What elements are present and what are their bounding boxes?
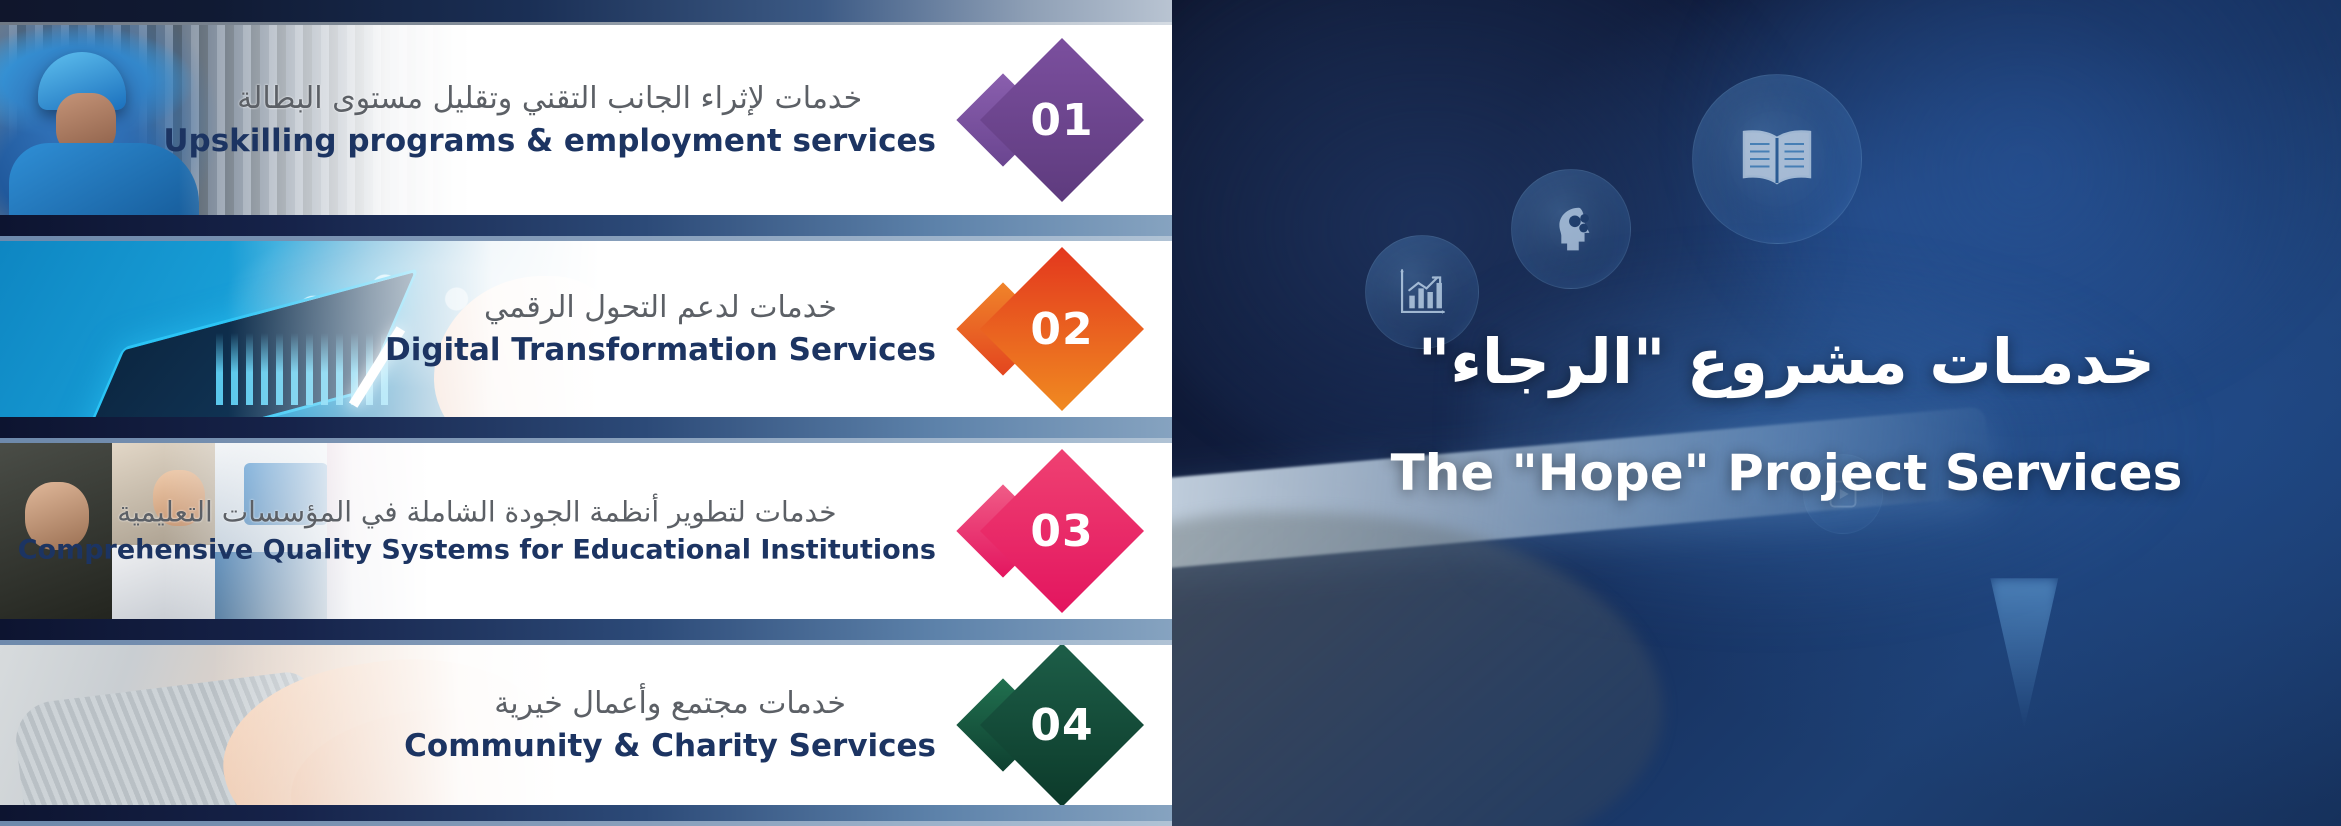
- hero-title-en: The "Hope" Project Services: [1391, 444, 2183, 502]
- service-text-03: خدمات لتطوير أنظمة الجودة الشاملة في الم…: [18, 495, 936, 568]
- service-badge-04[interactable]: 04: [970, 650, 1120, 800]
- hero-title-ar: خدمـات مشروع "الرجاء": [1418, 325, 2155, 398]
- service-badge-02[interactable]: 02: [970, 254, 1120, 404]
- hero-panel: خدمـات مشروع "الرجاء" The "Hope" Project…: [1172, 0, 2341, 826]
- service-text-02: خدمات لدعم التحول الرقمي Digital Transfo…: [385, 289, 936, 369]
- service-number-01: 01: [1004, 62, 1120, 178]
- service-title-en-01: Upskilling programs & employment service…: [163, 121, 936, 160]
- service-row-04[interactable]: خدمات مجتمع وأعمال خيرية Community & Cha…: [0, 645, 1172, 805]
- slide-canvas: خدمات لإثراء الجانب التقني وتقليل مستوى …: [0, 0, 2341, 826]
- service-title-en-04: Community & Charity Services: [404, 726, 936, 765]
- row-separator-bottom: [0, 805, 1172, 826]
- service-row-03[interactable]: خدمات لتطوير أنظمة الجودة الشاملة في الم…: [0, 443, 1172, 619]
- service-row-02[interactable]: خدمات لدعم التحول الرقمي Digital Transfo…: [0, 241, 1172, 417]
- service-number-04: 04: [1004, 667, 1120, 783]
- service-text-01: خدمات لإثراء الجانب التقني وتقليل مستوى …: [163, 80, 936, 160]
- service-badge-01[interactable]: 01: [970, 45, 1120, 195]
- service-title-ar-04: خدمات مجتمع وأعمال خيرية: [404, 685, 936, 723]
- top-gradient-bar: [0, 0, 1172, 22]
- row-separator-1: [0, 215, 1172, 241]
- services-list-panel: خدمات لإثراء الجانب التقني وتقليل مستوى …: [0, 0, 1172, 826]
- service-title-ar-01: خدمات لإثراء الجانب التقني وتقليل مستوى …: [163, 80, 936, 118]
- service-number-02: 02: [1004, 271, 1120, 387]
- service-title-en-02: Digital Transformation Services: [385, 330, 936, 369]
- hero-title-block: خدمـات مشروع "الرجاء" The "Hope" Project…: [1172, 0, 2341, 826]
- service-row-01[interactable]: خدمات لإثراء الجانب التقني وتقليل مستوى …: [0, 25, 1172, 215]
- service-text-04: خدمات مجتمع وأعمال خيرية Community & Cha…: [404, 685, 936, 765]
- service-title-en-03: Comprehensive Quality Systems for Educat…: [18, 534, 936, 568]
- row-separator-3: [0, 619, 1172, 645]
- row-separator-2: [0, 417, 1172, 443]
- service-number-03: 03: [1004, 473, 1120, 589]
- service-title-ar-03: خدمات لتطوير أنظمة الجودة الشاملة في الم…: [18, 495, 936, 530]
- service-badge-03[interactable]: 03: [970, 456, 1120, 606]
- service-title-ar-02: خدمات لدعم التحول الرقمي: [385, 289, 936, 327]
